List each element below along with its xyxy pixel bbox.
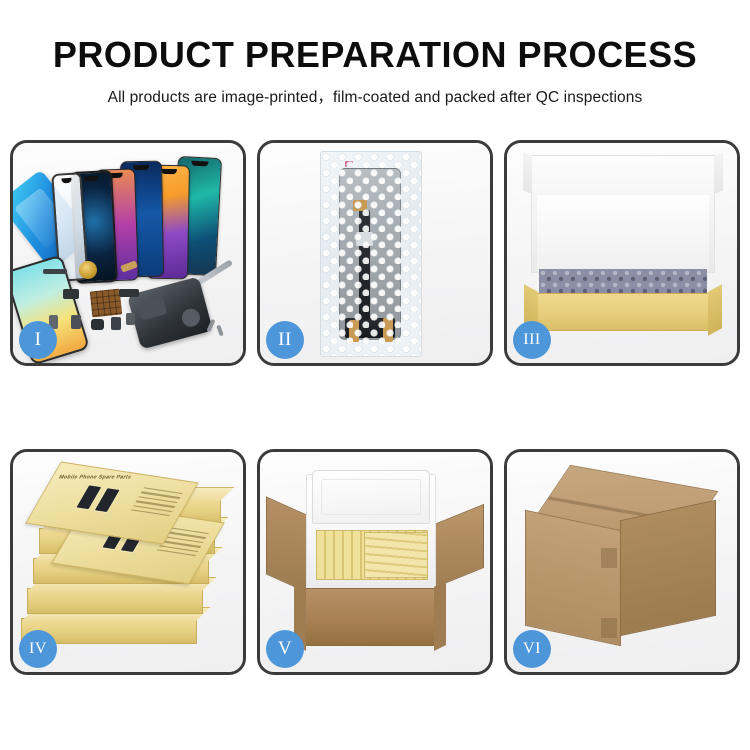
box-spec-lines-icon [129, 487, 183, 519]
page-subtitle: All products are image-printed，film-coat… [0, 85, 750, 107]
box-label-text: Mobile Phone Spare Parts [58, 475, 133, 481]
process-step-panel-3[interactable]: III [504, 140, 740, 366]
carton-flap-right-icon [434, 504, 484, 588]
spare-part-icon [63, 289, 79, 299]
carton-front-icon [302, 588, 438, 646]
step-badge-1: I [19, 321, 57, 359]
carton-right-face-icon [620, 500, 716, 636]
phone-backplate-icon [127, 276, 213, 349]
spare-part-icon [43, 269, 67, 274]
step-badge-2: II [266, 321, 304, 359]
screw-icon [216, 325, 224, 337]
product-preparation-process-page: PRODUCT PREPARATION PROCESS All products… [0, 0, 750, 750]
step-badge-3: III [513, 321, 551, 359]
spare-part-icon [119, 289, 139, 297]
white-foam-insert-icon [537, 195, 709, 271]
kraft-box-tray-icon [533, 293, 713, 331]
chip-array-icon [90, 289, 123, 318]
spare-part-icon [111, 317, 121, 330]
process-step-panel-4[interactable]: Mobile Phone Spare Parts Mobile Phone Sp… [10, 449, 246, 675]
stacked-box-icon [27, 588, 203, 614]
page-title: PRODUCT PREPARATION PROCESS [0, 36, 750, 74]
process-step-panel-5[interactable]: V [257, 449, 493, 675]
bubble-texture-icon [321, 152, 421, 356]
bubble-wrap-package-icon [320, 151, 422, 357]
step-badge-5: V [266, 630, 304, 668]
page-header: PRODUCT PREPARATION PROCESS All products… [0, 0, 750, 107]
process-step-panel-6[interactable]: VI [504, 449, 740, 675]
process-step-panel-1[interactable]: I [10, 140, 246, 366]
styrofoam-lid-icon [312, 470, 430, 524]
step-badge-6: VI [513, 630, 551, 668]
spare-part-icon [91, 319, 104, 330]
process-steps-grid: I II [10, 140, 740, 675]
spare-part-icon [126, 313, 135, 325]
copper-coil-icon [79, 261, 97, 279]
carton-tab-icon [601, 618, 617, 638]
step-badge-4: IV [19, 630, 57, 668]
box-stack-icon: Mobile Phone Spare Parts Mobile Phone Sp… [19, 476, 237, 662]
process-step-panel-2[interactable]: II [257, 140, 493, 366]
carton-tab-icon [601, 548, 617, 568]
spare-part-icon [71, 315, 81, 329]
box-artwork-icon [75, 484, 121, 513]
packed-yellow-boxes-icon [364, 532, 428, 578]
